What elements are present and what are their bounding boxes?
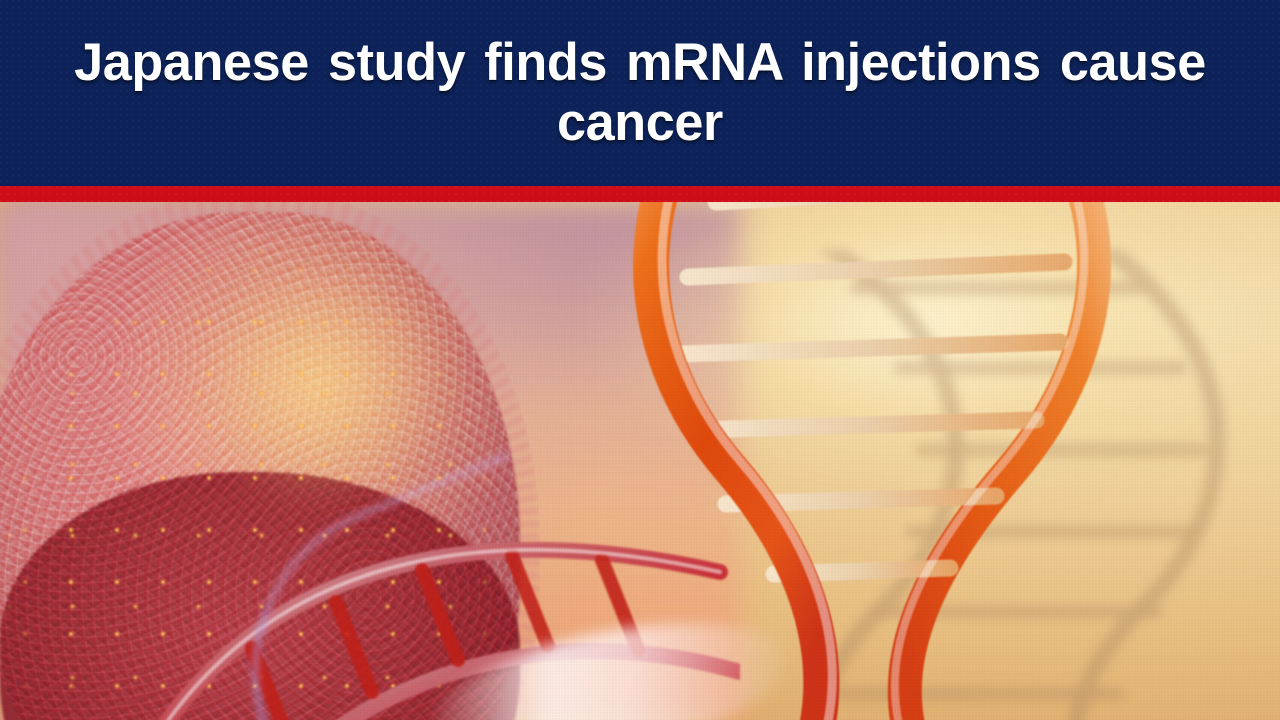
news-graphic-card: Japanese study finds mRNA injections cau…	[0, 0, 1280, 720]
accent-divider	[0, 186, 1280, 202]
hero-image	[0, 202, 1280, 720]
page-title: Japanese study finds mRNA injections cau…	[44, 33, 1236, 153]
headline-banner: Japanese study finds mRNA injections cau…	[0, 0, 1280, 186]
